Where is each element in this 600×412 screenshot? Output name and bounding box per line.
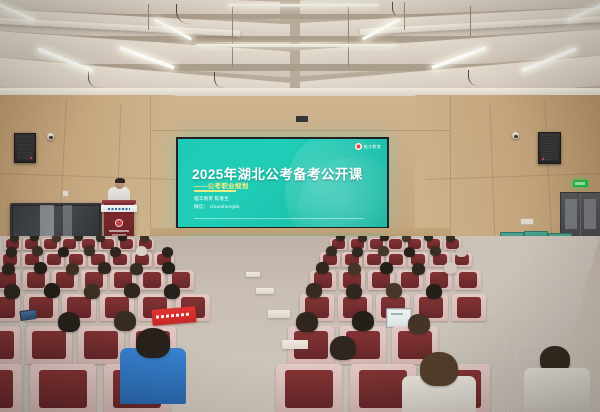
audience-head: [430, 246, 441, 256]
dome-camera-icon: [47, 133, 54, 140]
audience-head: [346, 284, 362, 299]
audience-head: [124, 283, 140, 298]
seat: [30, 364, 96, 412]
audience-head: [380, 236, 389, 241]
audience-head: [58, 312, 80, 332]
lectern-banner: [101, 205, 137, 212]
audience-head: [404, 247, 415, 257]
audience-head: [352, 311, 374, 331]
audience-head: [420, 352, 458, 386]
audience-head: [162, 247, 173, 257]
lecture-hall-photo: 临丰教育 2025年湖北公考备考公开课 ——公考职业规划 临丰教育 陈春生 微信…: [0, 0, 600, 412]
wall-speaker-icon: [538, 132, 561, 164]
audience-head: [456, 247, 467, 257]
slide-footer-rule: [194, 218, 364, 219]
wall-socket: [62, 190, 69, 197]
fold-desk: [282, 340, 308, 349]
audience-head: [316, 262, 329, 274]
audience-head: [96, 236, 105, 242]
audience-head: [164, 284, 180, 299]
projection-screen: 临丰教育 2025年湖北公考备考公开课 ——公考职业规划 临丰教育 陈春生 微信…: [176, 137, 389, 229]
slide-contact: 微信： chunsheng65: [194, 204, 240, 210]
wall-speaker-icon: [14, 133, 36, 163]
audience-head: [32, 246, 43, 256]
seat-row: [330, 238, 461, 250]
seat: [78, 326, 124, 364]
audience-head: [118, 236, 127, 241]
audience-head: [306, 283, 322, 298]
presentation-logo: 临丰教育: [355, 143, 381, 150]
audience-head: [446, 236, 455, 242]
ceiling-projector-icon: [296, 116, 308, 122]
audience-head: [52, 236, 61, 242]
audience-head: [378, 246, 389, 256]
audience-head: [330, 336, 356, 360]
audience-head: [84, 284, 100, 299]
audience-head: [408, 314, 430, 334]
exit-sign-icon: [573, 180, 588, 187]
audience-head: [98, 262, 111, 274]
seat: [139, 270, 165, 290]
institution-seal-icon: [115, 219, 123, 227]
audience-head: [114, 311, 136, 331]
audience-head: [444, 262, 457, 274]
fold-desk: [268, 310, 290, 318]
fold-desk: [246, 272, 260, 277]
audience-head: [424, 236, 433, 241]
seat: [276, 364, 342, 412]
audience-head: [110, 247, 121, 257]
audience-head: [296, 312, 318, 332]
seat: [0, 364, 22, 412]
audience-head: [30, 236, 39, 241]
audience-area: [0, 236, 600, 412]
logo-text: 临丰教育: [364, 144, 381, 150]
slide-subtitle: ——公考职业规划: [194, 180, 248, 190]
audience-head: [4, 284, 20, 299]
audience-head: [44, 283, 60, 298]
audience-head: [412, 263, 425, 275]
audience-head: [348, 263, 361, 275]
audience-head: [58, 247, 69, 257]
dome-camera-icon: [512, 132, 519, 139]
seat: [455, 270, 481, 290]
audience-head: [130, 263, 143, 275]
audience-head: [352, 247, 363, 257]
audience-head: [74, 236, 83, 241]
audience-head: [2, 263, 15, 275]
audience-head: [84, 246, 95, 256]
seat: [452, 294, 486, 321]
wall-plate: [520, 218, 534, 225]
audience-head: [34, 262, 47, 274]
slide-divider: [194, 190, 236, 192]
audience-head: [426, 284, 442, 299]
fold-desk: [256, 288, 274, 294]
slide-presenter: 临丰教育 陈春生: [194, 196, 229, 202]
audience-head: [162, 262, 175, 274]
audience-head: [66, 263, 79, 275]
audience-head: [140, 236, 149, 242]
audience-head: [10, 236, 19, 242]
audience-head: [380, 262, 393, 274]
promotional-flyer: [151, 306, 196, 326]
audience-head: [136, 246, 147, 256]
audience-head: [358, 236, 367, 242]
audience-head: [386, 283, 402, 298]
audience-person-right-edge: [524, 368, 590, 412]
audience-head: [136, 328, 170, 358]
audience-head: [336, 236, 345, 241]
audience-head: [6, 247, 17, 257]
seat: [0, 326, 20, 364]
audience-head: [326, 246, 337, 256]
presenter-hair: [115, 178, 125, 183]
audience-head: [402, 236, 411, 242]
logo-mark-icon: [355, 143, 362, 150]
